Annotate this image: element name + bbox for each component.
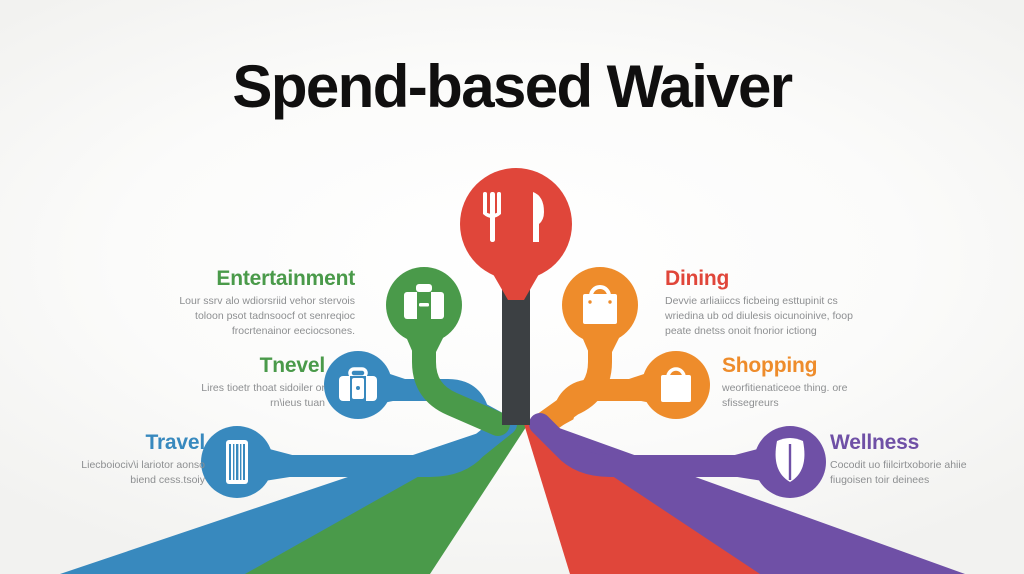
infographic-canvas: Spend-based Waiver bbox=[0, 0, 1024, 574]
label-travel-title: Travel bbox=[60, 432, 205, 454]
node-tnevel[interactable] bbox=[324, 351, 408, 419]
label-dining-description: Devvie arliaiiccs ficbeing esttupinit cs… bbox=[665, 294, 865, 340]
label-entertainment-title: Entertainment bbox=[150, 268, 355, 290]
label-entertainment: Entertainment Lour ssrv alo wdiorsriid v… bbox=[150, 268, 355, 340]
label-wellness-title: Wellness bbox=[830, 432, 1005, 454]
node-travel[interactable] bbox=[201, 426, 296, 498]
label-wellness-description: Cocodit uo fiilcirtxoborie ahiie fiugois… bbox=[830, 458, 1005, 488]
label-dining-title: Dining bbox=[665, 268, 865, 290]
label-tnevel-title: Tnevel bbox=[170, 355, 325, 377]
boarding-pass-icon bbox=[226, 440, 248, 484]
label-shopping-description: weorfitienaticeoe thing. ore sfissegreur… bbox=[722, 381, 892, 411]
label-travel-description: Liecboiociv\i lariotor aonso biend cess.… bbox=[60, 458, 205, 488]
node-entertainment[interactable] bbox=[386, 267, 462, 360]
label-shopping-title: Shopping bbox=[722, 355, 892, 377]
node-shopping[interactable] bbox=[626, 351, 710, 419]
label-entertainment-description: Lour ssrv alo wdiorsriid vehor stervois … bbox=[150, 294, 355, 340]
page-title: Spend-based Waiver bbox=[0, 52, 1024, 121]
node-wellness[interactable] bbox=[731, 426, 826, 498]
label-wellness: Wellness Cocodit uo fiilcirtxoborie ahii… bbox=[830, 432, 1005, 488]
label-dining: Dining Devvie arliaiiccs ficbeing esttup… bbox=[665, 268, 865, 340]
label-travel: Travel Liecboiociv\i lariotor aonso bien… bbox=[60, 432, 205, 488]
node-dining-side[interactable] bbox=[562, 267, 638, 360]
node-dining-center[interactable] bbox=[460, 168, 572, 300]
label-shopping: Shopping weorfitienaticeoe thing. ore sf… bbox=[722, 355, 892, 411]
label-tnevel-description: Lires tioetr thoat sidoiler or rn\ieus t… bbox=[170, 381, 325, 411]
label-tnevel: Tnevel Lires tioetr thoat sidoiler or rn… bbox=[170, 355, 325, 411]
